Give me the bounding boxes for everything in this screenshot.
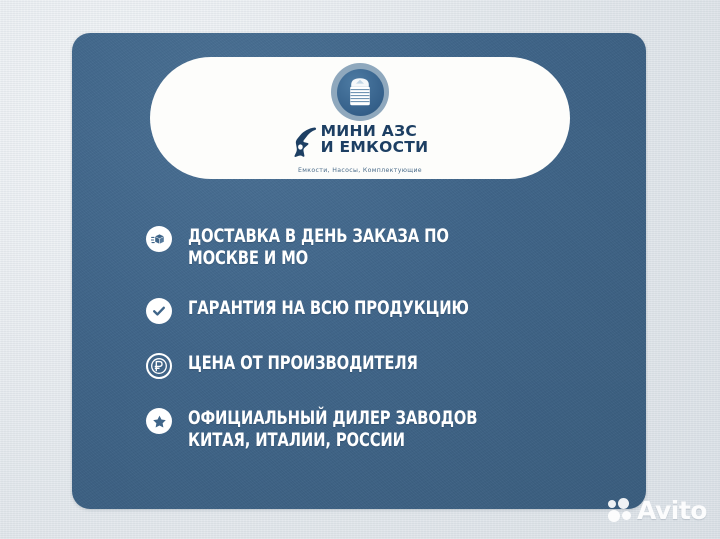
fuel-tank-icon (337, 69, 384, 116)
brand-tagline: Емкости, Насосы, Комплектующие (298, 167, 422, 174)
feature-label-delivery: ДОСТАВКА В ДЕНЬ ЗАКАЗА ПО МОСКВЕ И МО (188, 225, 522, 269)
fuel-nozzle-icon (292, 125, 318, 164)
brand-wordmark: МИНИ АЗС И ЕМКОСТИ (321, 124, 429, 156)
avito-watermark: Avito (608, 496, 707, 525)
feature-item-dealer: ОФИЦИАЛЬНЫЙ ДИЛЕР ЗАВОДОВ КИТАЯ, ИТАЛИИ,… (146, 407, 616, 451)
feature-label-price: ЦЕНА ОТ ПРОИЗВОДИТЕЛЯ (188, 352, 418, 374)
avito-wordmark: Avito (637, 496, 707, 525)
promo-card: МИНИ АЗС И ЕМКОСТИ Емкости, Насосы, Комп… (72, 33, 646, 509)
feature-item-price: ЦЕНА ОТ ПРОИЗВОДИТЕЛЯ (146, 352, 616, 379)
feature-list: ДОСТАВКА В ДЕНЬ ЗАКАЗА ПО МОСКВЕ И МО ГА… (146, 225, 616, 451)
feature-label-dealer: ОФИЦИАЛЬНЫЙ ДИЛЕР ЗАВОДОВ КИТАЯ, ИТАЛИИ,… (188, 407, 477, 451)
feature-item-warranty: ГАРАНТИЯ НА ВСЮ ПРОДУКЦИЮ (146, 297, 616, 324)
logo-container: МИНИ АЗС И ЕМКОСТИ Емкости, Насосы, Комп… (150, 57, 570, 179)
feature-item-delivery: ДОСТАВКА В ДЕНЬ ЗАКАЗА ПО МОСКВЕ И МО (146, 225, 616, 269)
check-circle-icon (146, 298, 172, 324)
avito-dots-icon (608, 498, 634, 524)
feature-label-warranty: ГАРАНТИЯ НА ВСЮ ПРОДУКЦИЮ (188, 297, 469, 319)
brand-line-2: И ЕМКОСТИ (321, 140, 429, 156)
delivery-box-icon (146, 226, 172, 252)
fuel-tank-emblem (331, 63, 389, 121)
star-circle-icon (146, 408, 172, 434)
ruble-coin-icon (146, 353, 172, 379)
brand-lockup: МИНИ АЗС И ЕМКОСТИ (292, 124, 429, 164)
